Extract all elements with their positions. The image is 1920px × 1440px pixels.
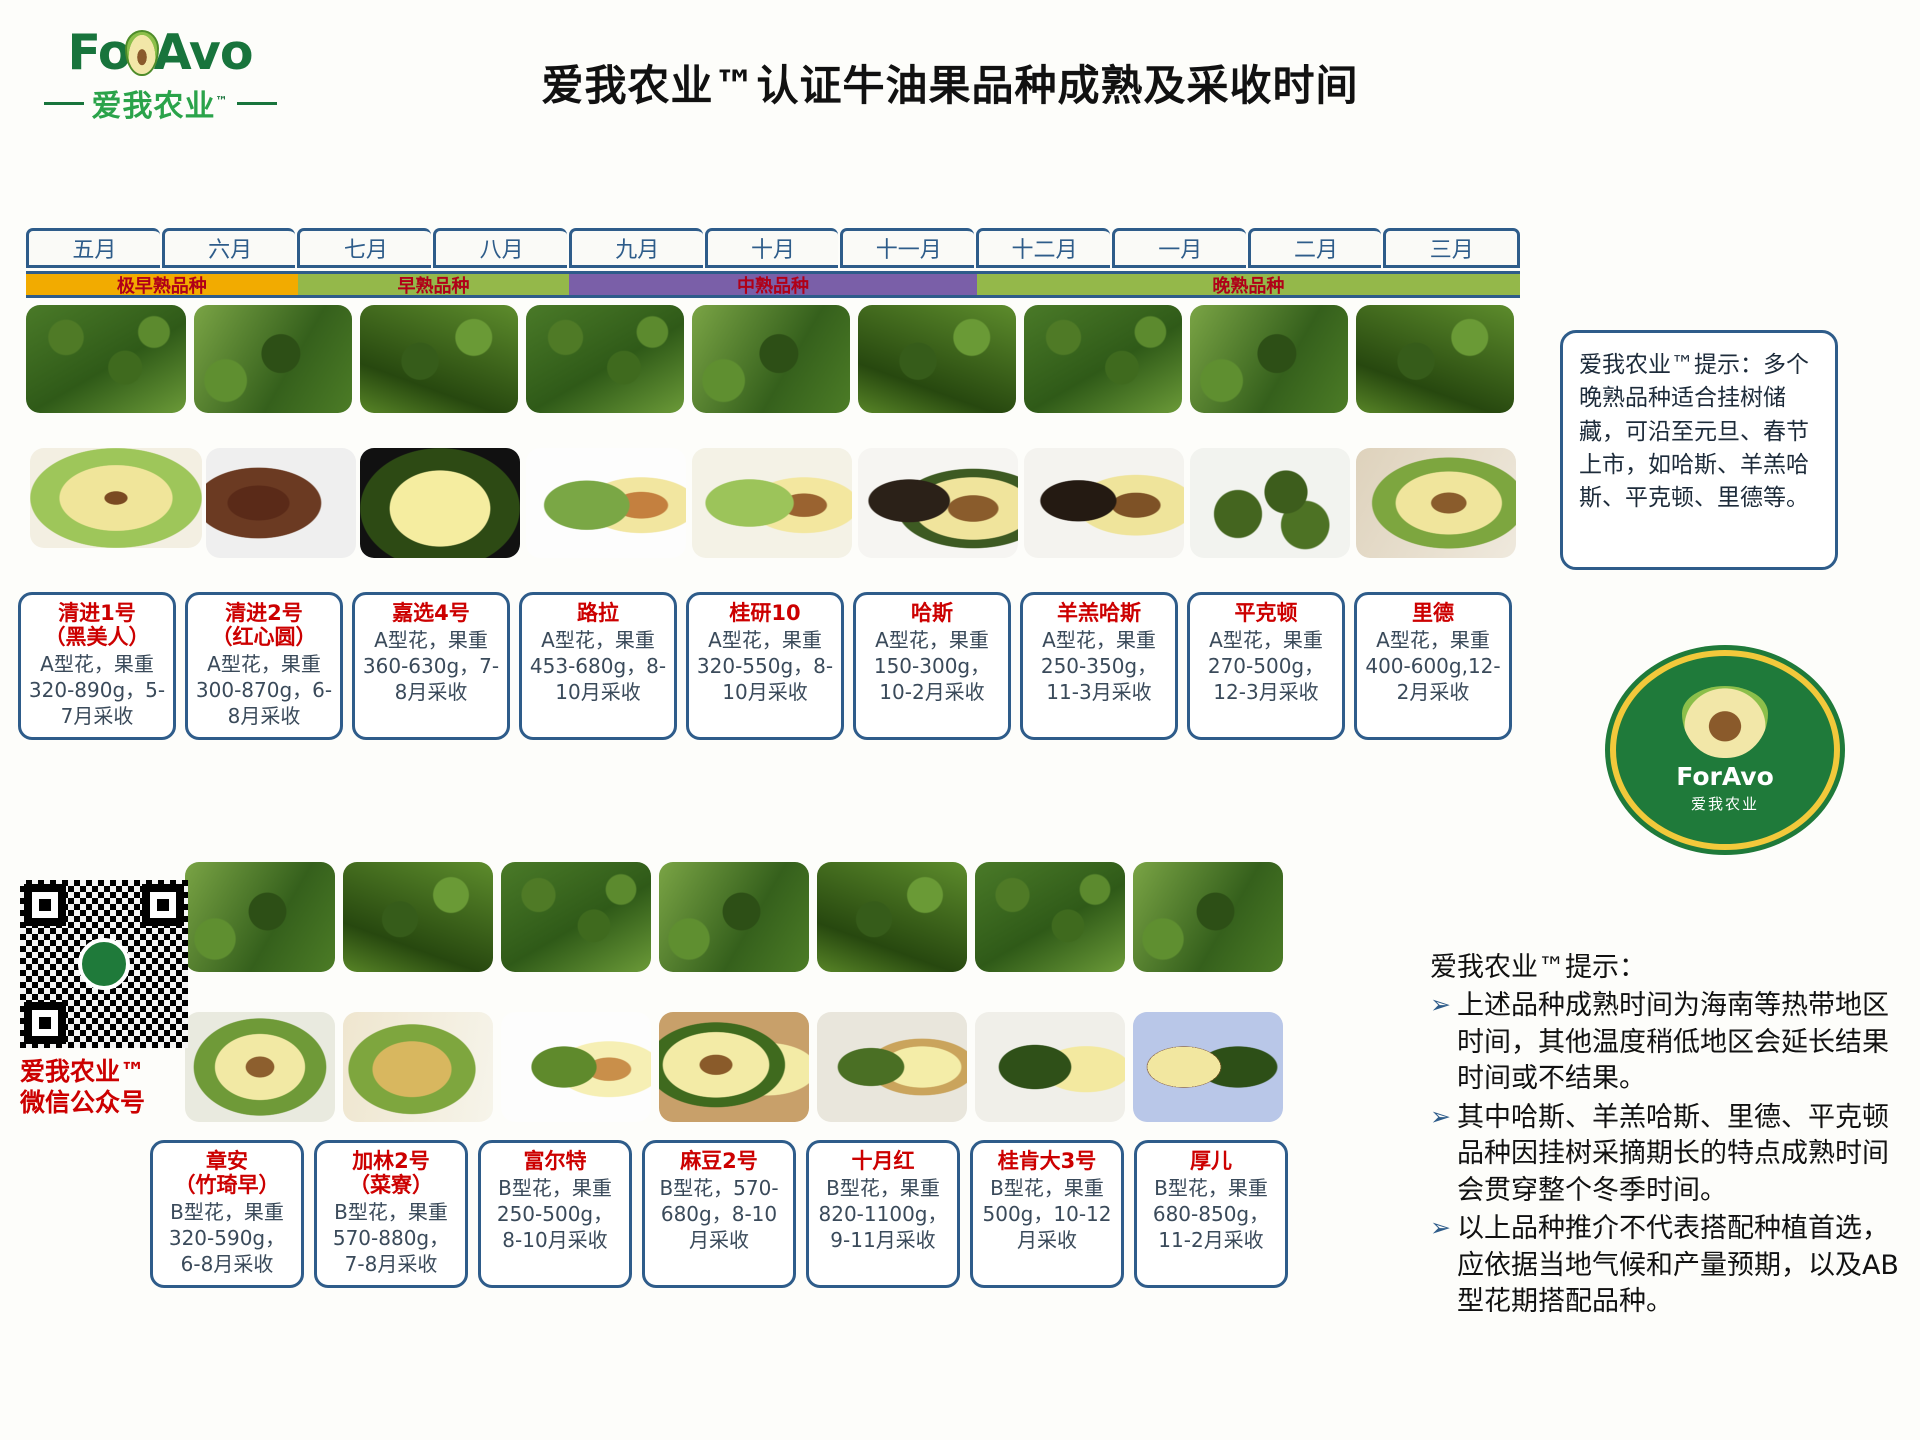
qr-caption-line1: 爱我农业™ (20, 1056, 195, 1087)
variety-description: A型花，果重400-600g,12-2月采收 (1363, 627, 1503, 705)
tree-photo (1024, 305, 1182, 413)
seal-avocado-icon (1682, 686, 1768, 758)
month-cell-3: 七月 (297, 228, 431, 268)
seal-chinese: 爱我农业 (1691, 793, 1759, 814)
variety-card[interactable]: 桂肯大3号B型花，果重500g，10-12月采收 (970, 1140, 1124, 1288)
tree-photo (1356, 305, 1514, 413)
note-text: 上述品种成熟时间为海南等热带地区时间，其他温度稍低地区会延长结果时间或不结果。 (1457, 988, 1900, 1097)
fruit-photo (343, 1012, 493, 1122)
qr-eye-tr (142, 884, 184, 926)
variety-description: B型花，果重570-880g，7-8月采收 (323, 1199, 459, 1277)
tree-photo (858, 305, 1016, 413)
fruit-photo (1190, 448, 1350, 558)
month-cell-7: 十一月 (840, 228, 974, 268)
fruit-photo (206, 448, 356, 558)
qr-eye-tl (24, 884, 66, 926)
variety-card[interactable]: 富尔特B型花，果重250-500g，8-10月采收 (478, 1140, 632, 1288)
logo-chinese-row: 爱我农业™ (30, 81, 290, 125)
note-text: 其中哈斯、羊羔哈斯、里德、平克顿品种因挂树采摘期长的特点成熟时间会贯穿整个冬季时… (1457, 1100, 1900, 1209)
variety-card[interactable]: 路拉A型花，果重453-680g，8-10月采收 (519, 592, 677, 740)
variety-card[interactable]: 平克顿A型花，果重270-500g，12-3月采收 (1187, 592, 1345, 740)
tree-photo (526, 305, 684, 413)
month-cell-6: 十月 (705, 228, 839, 268)
stage-segment-2: 早熟品种 (298, 274, 570, 295)
row2-tree-photos (185, 862, 1283, 972)
logo-wordmark: ForAvo (67, 28, 252, 77)
row1-tree-photos (26, 305, 1514, 413)
month-cell-2: 六月 (162, 228, 296, 268)
variety-description: A型花，果重270-500g，12-3月采收 (1196, 627, 1336, 705)
variety-description: B型花，果重500g，10-12月采收 (979, 1175, 1115, 1253)
fruit-photo (858, 448, 1018, 558)
page-header: ForAvo 爱我农业™ 爱我农业™认证牛油果品种成熟及采收时间 (0, 0, 1920, 165)
tree-photo (692, 305, 850, 413)
qr-caption-line2: 微信公众号 (20, 1087, 195, 1118)
tree-photo (26, 305, 186, 413)
variety-name: 麻豆2号 (680, 1149, 758, 1173)
row1-fruit-photos (30, 448, 1516, 558)
tree-photo (659, 862, 809, 972)
logo-tm: ™ (216, 94, 229, 108)
variety-alias: （黑美人） (45, 625, 150, 649)
variety-name: 路拉 (577, 601, 619, 625)
tree-photo (1133, 862, 1283, 972)
variety-card[interactable]: 哈斯A型花，果重150-300g，10-2月采收 (853, 592, 1011, 740)
month-cell-4: 八月 (433, 228, 567, 268)
month-cell-10: 二月 (1248, 228, 1382, 268)
fruit-photo (1133, 1012, 1283, 1122)
brand-logo: ForAvo 爱我农业™ (30, 28, 290, 125)
seal-logo: ForAvo 爱我农业 (1610, 650, 1840, 850)
variety-name: 平克顿 (1235, 601, 1298, 625)
variety-description: A型花，果重250-350g，11-3月采收 (1029, 627, 1169, 705)
qr-eye-bl (24, 1002, 66, 1044)
variety-description: A型花，果重320-890g，5-7月采收 (27, 651, 167, 729)
variety-card[interactable]: 章安（竹琦早）B型花，果重320-590g，6-8月采收 (150, 1140, 304, 1288)
variety-card[interactable]: 里德A型花，果重400-600g,12-2月采收 (1354, 592, 1512, 740)
wechat-qr-block: 爱我农业™ 微信公众号 (20, 880, 195, 1119)
variety-name: 加林2号 (352, 1149, 430, 1173)
row2-variety-cards: 章安（竹琦早）B型花，果重320-590g，6-8月采收加林2号（菜寮）B型花，… (150, 1140, 1306, 1288)
variety-name: 清进2号 (225, 601, 303, 625)
variety-description: A型花，果重360-630g，7-8月采收 (361, 627, 501, 705)
fruit-photo (360, 448, 520, 558)
variety-name: 桂研10 (729, 601, 800, 625)
variety-name: 十月红 (852, 1149, 915, 1173)
variety-description: B型花，果重820-1100g，9-11月采收 (815, 1175, 951, 1253)
note-bullet-icon: ➢ (1430, 1100, 1451, 1209)
month-cell-1: 五月 (26, 228, 160, 268)
tree-photo (817, 862, 967, 972)
month-cell-11: 三月 (1383, 228, 1520, 268)
variety-card[interactable]: 十月红B型花，果重820-1100g，9-11月采收 (806, 1140, 960, 1288)
tip-text: 爱我农业™提示：多个晚熟品种适合挂树储藏，可沿至元旦、春节上市，如哈斯、羊羔哈斯… (1579, 352, 1809, 511)
tip-callout: 爱我农业™提示：多个晚熟品种适合挂树储藏，可沿至元旦、春节上市，如哈斯、羊羔哈斯… (1560, 330, 1838, 570)
variety-card[interactable]: 加林2号（菜寮）B型花，果重570-880g，7-8月采收 (314, 1140, 468, 1288)
logo-cn-label: 爱我农业 (92, 89, 216, 124)
variety-description: B型花，570-680g，8-10月采收 (651, 1175, 787, 1253)
fruit-photo (185, 1012, 335, 1122)
seal-wordmark: ForAvo (1676, 762, 1774, 791)
fruit-photo (526, 448, 686, 558)
variety-name: 桂肯大3号 (998, 1149, 1097, 1173)
note-bullet-icon: ➢ (1430, 1211, 1451, 1320)
note-bullet-icon: ➢ (1430, 988, 1451, 1097)
variety-name: 清进1号 (58, 601, 136, 625)
note-item-2: ➢其中哈斯、羊羔哈斯、里德、平克顿品种因挂树采摘期长的特点成熟时间会贯穿整个冬季… (1430, 1100, 1900, 1209)
stage-bar: 极早熟品种早熟品种中熟品种晚熟品种 (26, 271, 1520, 298)
stage-segment-4: 晚熟品种 (977, 274, 1520, 295)
stage-segment-3: 中熟品种 (569, 274, 976, 295)
tree-photo (1190, 305, 1348, 413)
variety-name: 里德 (1412, 601, 1454, 625)
fruit-photo (692, 448, 852, 558)
variety-description: B型花，果重320-590g，6-8月采收 (159, 1199, 295, 1277)
stage-segment-1: 极早熟品种 (26, 274, 298, 295)
variety-description: B型花，果重250-500g，8-10月采收 (487, 1175, 623, 1253)
page-title: 爱我农业™认证牛油果品种成熟及采收时间 (400, 52, 1500, 113)
variety-name: 厚儿 (1190, 1149, 1232, 1173)
qr-caption: 爱我农业™ 微信公众号 (20, 1056, 195, 1119)
fruit-photo (30, 448, 202, 548)
fruit-photo (817, 1012, 967, 1122)
variety-card[interactable]: 清进1号（黑美人）A型花，果重320-890g，5-7月采收 (18, 592, 176, 740)
notes-title: 爱我农业™提示： (1430, 950, 1900, 986)
variety-name: 嘉选4号 (392, 601, 470, 625)
month-cell-5: 九月 (569, 228, 703, 268)
fruit-photo (975, 1012, 1125, 1122)
footer-notes: 爱我农业™提示： ➢上述品种成熟时间为海南等热带地区时间，其他温度稍低地区会延长… (1430, 950, 1900, 1320)
fruit-photo (1024, 448, 1184, 558)
variety-description: A型花，果重320-550g，8-10月采收 (695, 627, 835, 705)
variety-card[interactable]: 麻豆2号B型花，570-680g，8-10月采收 (642, 1140, 796, 1288)
month-timeline: 五月六月七月八月九月十月十一月十二月一月二月三月 (26, 228, 1520, 268)
logo-word-text: ForAvo (67, 24, 252, 81)
variety-alias: （菜寮） (349, 1173, 433, 1197)
row2-fruit-photos (185, 1012, 1283, 1122)
tree-photo (360, 305, 518, 413)
logo-chinese-text: 爱我农业™ (92, 81, 229, 125)
tree-photo (501, 862, 651, 972)
qr-code-icon (20, 880, 188, 1048)
notes-list: ➢上述品种成熟时间为海南等热带地区时间，其他温度稍低地区会延长结果时间或不结果。… (1430, 988, 1900, 1320)
variety-card[interactable]: 羊羔哈斯A型花，果重250-350g，11-3月采收 (1020, 592, 1178, 740)
tree-photo (975, 862, 1125, 972)
variety-card[interactable]: 清进2号（红心圆）A型花，果重300-870g，6-8月采收 (185, 592, 343, 740)
note-item-3: ➢以上品种推介不代表搭配种植首选，应依据当地气候和产量预期，以及AB型花期搭配品… (1430, 1211, 1900, 1320)
variety-name: 章安 (206, 1149, 248, 1173)
variety-description: B型花，果重680-850g，11-2月采收 (1143, 1175, 1279, 1253)
logo-rule-right (237, 102, 277, 105)
variety-alias: （竹琦早） (175, 1173, 280, 1197)
variety-description: A型花，果重150-300g，10-2月采收 (862, 627, 1002, 705)
variety-card[interactable]: 嘉选4号A型花，果重360-630g，7-8月采收 (352, 592, 510, 740)
tree-photo (194, 305, 352, 413)
month-cell-8: 十二月 (976, 228, 1110, 268)
note-text: 以上品种推介不代表搭配种植首选，应依据当地气候和产量预期，以及AB型花期搭配品种… (1457, 1211, 1900, 1320)
month-cell-9: 一月 (1112, 228, 1246, 268)
variety-description: A型花，果重300-870g，6-8月采收 (194, 651, 334, 729)
seal-outer-ring: ForAvo 爱我农业 (1610, 650, 1840, 850)
variety-alias: （红心圆） (212, 625, 317, 649)
fruit-photo (659, 1012, 809, 1122)
row1-variety-cards: 清进1号（黑美人）A型花，果重320-890g，5-7月采收清进2号（红心圆）A… (18, 592, 1528, 740)
note-item-1: ➢上述品种成熟时间为海南等热带地区时间，其他温度稍低地区会延长结果时间或不结果。 (1430, 988, 1900, 1097)
variety-name: 富尔特 (524, 1149, 587, 1173)
variety-name: 羊羔哈斯 (1057, 601, 1141, 625)
variety-card[interactable]: 桂研10A型花，果重320-550g，8-10月采收 (686, 592, 844, 740)
qr-logo-center (78, 938, 130, 990)
variety-card[interactable]: 厚儿B型花，果重680-850g，11-2月采收 (1134, 1140, 1288, 1288)
tree-photo (185, 862, 335, 972)
fruit-photo (501, 1012, 651, 1122)
logo-rule-left (44, 102, 84, 105)
variety-description: A型花，果重453-680g，8-10月采收 (528, 627, 668, 705)
tree-photo (343, 862, 493, 972)
fruit-photo (1356, 448, 1516, 558)
variety-name: 哈斯 (911, 601, 953, 625)
